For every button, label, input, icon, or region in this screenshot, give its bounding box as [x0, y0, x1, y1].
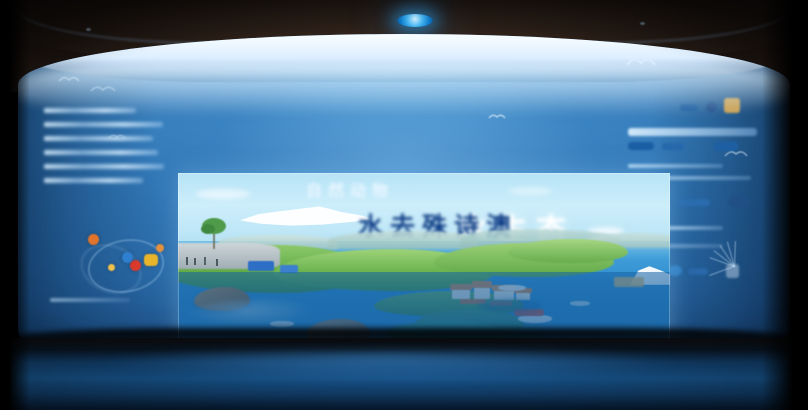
panel-blob-icon	[668, 265, 682, 276]
left-panel-text-line	[44, 178, 143, 183]
diagram-node-icon	[108, 264, 115, 271]
right-panel-heading	[628, 128, 757, 136]
right-edge-shadow	[762, 0, 808, 410]
central-content-screen[interactable]: 自然动物 · · · 水生态 水去殊诗澳 · · · · ·	[178, 173, 670, 343]
diagram-node-icon	[144, 254, 158, 266]
panel-blob-icon	[628, 142, 654, 150]
diagram-node-icon	[130, 260, 141, 271]
screen-bezel	[178, 173, 670, 343]
ceiling-dot-icon	[640, 22, 645, 25]
diagram-node-icon	[88, 234, 99, 245]
left-panel-caption	[50, 298, 130, 302]
left-info-panel	[44, 108, 168, 308]
diagram-node-icon	[156, 244, 164, 252]
panel-blob-icon	[676, 199, 710, 206]
exhibition-hall-scene: 自然动物 · · · 水生态 水去殊诗澳 · · · · ·	[0, 0, 808, 410]
panel-blob-icon	[688, 268, 708, 275]
flying-bird-silhouette-icon	[724, 148, 748, 158]
diagram-node-icon	[122, 252, 133, 263]
left-panel-text-line	[44, 136, 153, 141]
cove-light-band	[18, 34, 790, 82]
ceiling-dot-icon	[86, 28, 91, 31]
ceiling-spot-light-icon	[397, 14, 433, 27]
panel-blob-icon	[662, 143, 684, 150]
right-panel-text-line	[628, 164, 723, 168]
flying-bird-silhouette-icon	[108, 132, 126, 140]
panel-blob-icon	[728, 196, 750, 208]
floor-reflection	[40, 352, 740, 396]
wall-surface: 自然动物 · · · 水生态 水去殊诗澳 · · · · ·	[18, 34, 790, 350]
circular-process-diagram	[78, 234, 174, 298]
left-panel-text-line	[44, 150, 158, 155]
left-edge-shadow	[0, 0, 30, 410]
left-panel-text-line	[44, 122, 163, 127]
radial-burst-diagram	[706, 248, 762, 286]
left-panel-text-line	[44, 164, 164, 169]
curved-display-wall: 自然动物 · · · 水生态 水去殊诗澳 · · · · ·	[18, 34, 790, 350]
